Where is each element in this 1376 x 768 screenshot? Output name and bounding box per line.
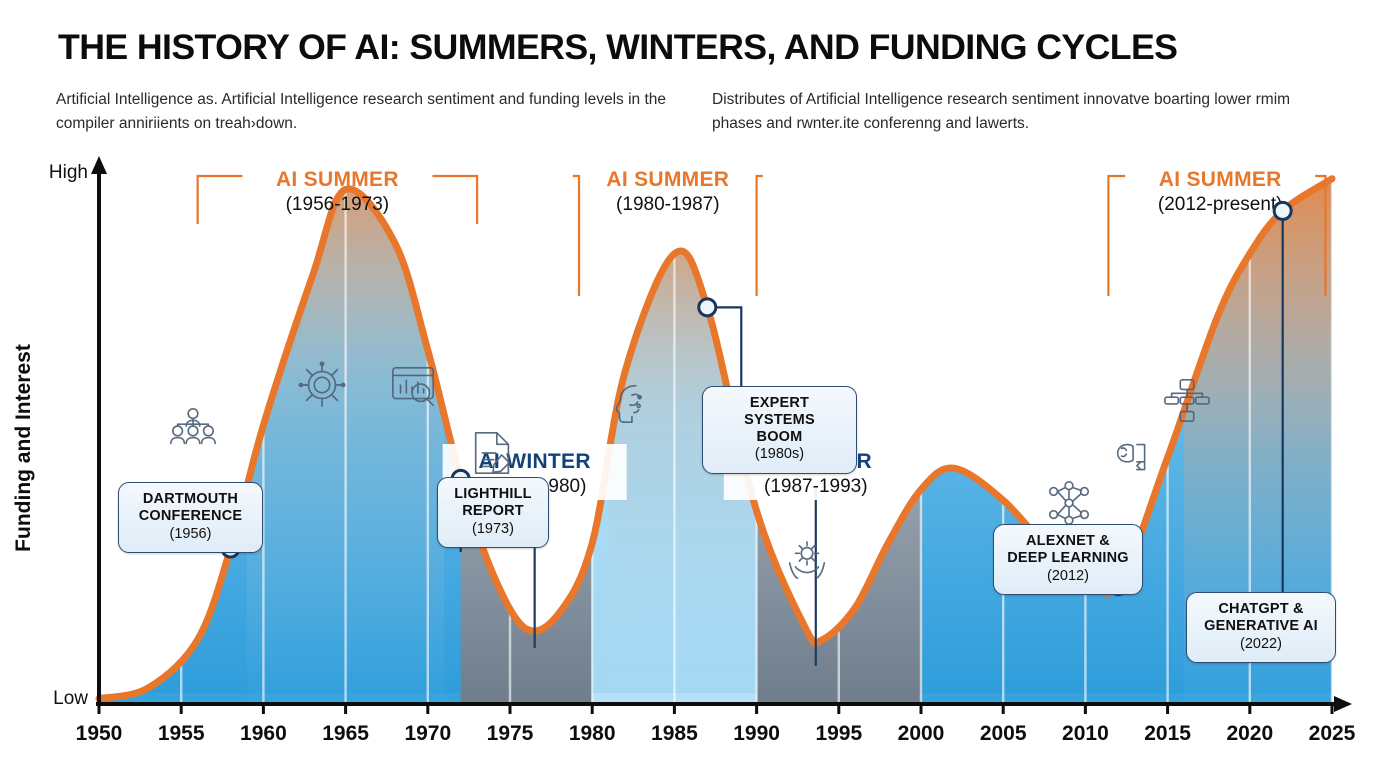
callout-title: CHATGPT & GENERATIVE AI: [1197, 601, 1325, 635]
callout-alexnet-deep-learning[interactable]: ALEXNET & DEEP LEARNING (2012): [993, 524, 1143, 595]
page-title: THE HISTORY OF AI: SUMMERS, WINTERS, AND…: [58, 28, 1177, 68]
x-axis-ticks: 1950195519601965197019751980198519901995…: [76, 704, 1356, 745]
x-axis-tick-label-1970: 1970: [404, 722, 451, 745]
x-axis-tick-label-1980: 1980: [569, 722, 616, 745]
era-name-label: AI SUMMER: [1159, 168, 1282, 191]
x-axis-tick-label-1950: 1950: [76, 722, 123, 745]
callout-year: (1980s): [713, 445, 846, 464]
x-axis-tick-label-1960: 1960: [240, 722, 287, 745]
callout-title: EXPERT SYSTEMS BOOM: [713, 395, 846, 445]
x-axis-tick-label-2015: 2015: [1144, 722, 1191, 745]
gear-ai-icon: [297, 360, 347, 410]
document-edit-icon: [468, 428, 518, 478]
x-axis-tick-label-1965: 1965: [322, 722, 369, 745]
y-axis-high-label: High: [49, 162, 88, 183]
subtitle-left: Artificial Intelligence as. Artificial I…: [56, 88, 696, 136]
ai-history-chart: AI SUMMER(1956-1973)AI WINTER(1974-1980)…: [0, 148, 1376, 768]
callout-year: (2022): [1197, 635, 1325, 654]
callout-title: LIGHTHILL REPORT: [448, 486, 538, 520]
era-name-label: AI SUMMER: [606, 168, 729, 191]
brain-flow-icon: [1110, 433, 1160, 483]
x-axis-tick-label-2025: 2025: [1309, 722, 1356, 745]
network-people-icon: [168, 403, 218, 453]
era-year-label: (1956-1973): [286, 194, 390, 215]
data-point-marker-expert[interactable]: [699, 299, 716, 316]
x-axis-tick-label-1955: 1955: [158, 722, 205, 745]
era-name-label: AI SUMMER: [276, 168, 399, 191]
callout-expert-systems-boom[interactable]: EXPERT SYSTEMS BOOM (1980s): [702, 386, 857, 474]
callout-year: (1956): [129, 525, 252, 544]
callout-title: ALEXNET & DEEP LEARNING: [1004, 533, 1132, 567]
chart-canvas: AI SUMMER(1956-1973)AI WINTER(1974-1980)…: [0, 148, 1376, 768]
hierarchy-icon: [1162, 376, 1212, 426]
header: THE HISTORY OF AI: SUMMERS, WINTERS, AND…: [0, 0, 1376, 148]
y-axis-title: Funding and Interest: [12, 344, 35, 552]
x-axis-tick-label-1995: 1995: [815, 722, 862, 745]
chart-search-icon: [389, 362, 439, 412]
x-axis-tick-label-1990: 1990: [733, 722, 780, 745]
era-year-label: (1980-1987): [616, 194, 720, 215]
x-axis-tick-label-1975: 1975: [487, 722, 534, 745]
data-point-marker-chatgpt[interactable]: [1274, 202, 1291, 219]
gear-hands-icon: [782, 536, 832, 586]
callout-chatgpt-generative-ai[interactable]: CHATGPT & GENERATIVE AI (2022): [1186, 592, 1336, 663]
callout-year: (1973): [448, 520, 538, 539]
x-axis-tick-label-1985: 1985: [651, 722, 698, 745]
callout-dartmouth-conference[interactable]: DARTMOUTH CONFERENCE (1956): [118, 482, 263, 553]
era-year-label: (2012-present): [1158, 194, 1283, 215]
neural-net-icon: [1044, 478, 1094, 528]
subtitle-right: Distributes of Artificial Intelligence r…: [712, 88, 1332, 136]
callout-lighthill-report[interactable]: LIGHTHILL REPORT (1973): [437, 477, 549, 548]
x-axis-tick-label-2000: 2000: [898, 722, 945, 745]
era-year-label: (1987-1993): [764, 476, 868, 497]
x-axis-tick-label-2005: 2005: [980, 722, 1027, 745]
infographic-page: THE HISTORY OF AI: SUMMERS, WINTERS, AND…: [0, 0, 1376, 768]
callout-title: DARTMOUTH CONFERENCE: [129, 491, 252, 525]
y-axis-low-label: Low: [53, 688, 88, 709]
x-axis-tick-label-2020: 2020: [1226, 722, 1273, 745]
callout-year: (2012): [1004, 567, 1132, 586]
x-axis-tick-label-2010: 2010: [1062, 722, 1109, 745]
brain-profile-icon: [605, 378, 655, 428]
